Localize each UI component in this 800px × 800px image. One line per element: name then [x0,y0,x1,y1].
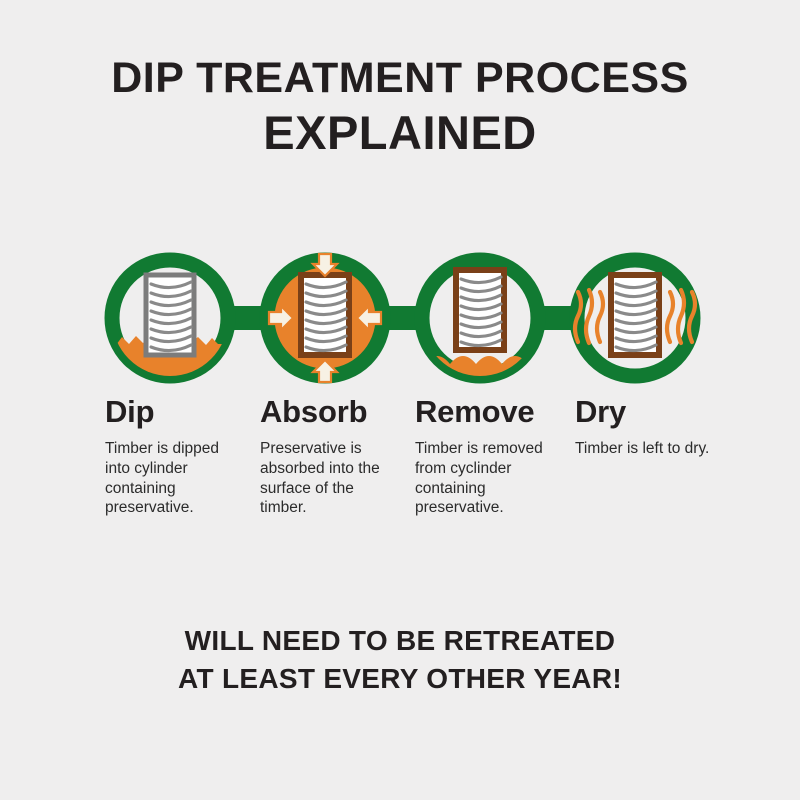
page-title: DIP TREATMENT PROCESS EXPLAINED [0,0,800,159]
step-label-remove: Remove [415,396,575,427]
step-desc-remove: Timber is removed from cyclinder contain… [415,439,555,518]
step-column-dry: Dry Timber is left to dry. [575,396,730,518]
step-circle-dip[interactable] [104,260,236,388]
step-descriptions: Dip Timber is dipped into cylinder conta… [0,396,800,518]
step-circle-absorb[interactable] [267,254,383,382]
title-line-1: DIP TREATMENT PROCESS [0,56,800,101]
timber-plank [301,275,349,355]
step-desc-dry: Timber is left to dry. [575,439,715,459]
step-label-absorb: Absorb [260,396,415,427]
footer-line-2: AT LEAST EVERY OTHER YEAR! [0,660,800,698]
step-circle-dry[interactable] [575,260,695,376]
step-desc-absorb: Preservative is absorbed into the surfac… [260,439,400,518]
process-diagram [0,248,800,388]
step-label-dip: Dip [105,396,260,427]
timber-plank [611,275,659,355]
step-column-absorb: Absorb Preservative is absorbed into the… [260,396,415,518]
step-label-dry: Dry [575,396,730,427]
title-line-2: EXPLAINED [0,107,800,159]
timber-plank [146,275,194,355]
timber-plank [456,270,504,350]
footer-callout: WILL NEED TO BE RETREATED AT LEAST EVERY… [0,622,800,698]
footer-line-1: WILL NEED TO BE RETREATED [0,622,800,660]
step-column-remove: Remove Timber is removed from cyclinder … [415,396,575,518]
step-column-dip: Dip Timber is dipped into cylinder conta… [105,396,260,518]
step-circle-remove[interactable] [416,260,538,388]
step-desc-dip: Timber is dipped into cylinder containin… [105,439,245,518]
